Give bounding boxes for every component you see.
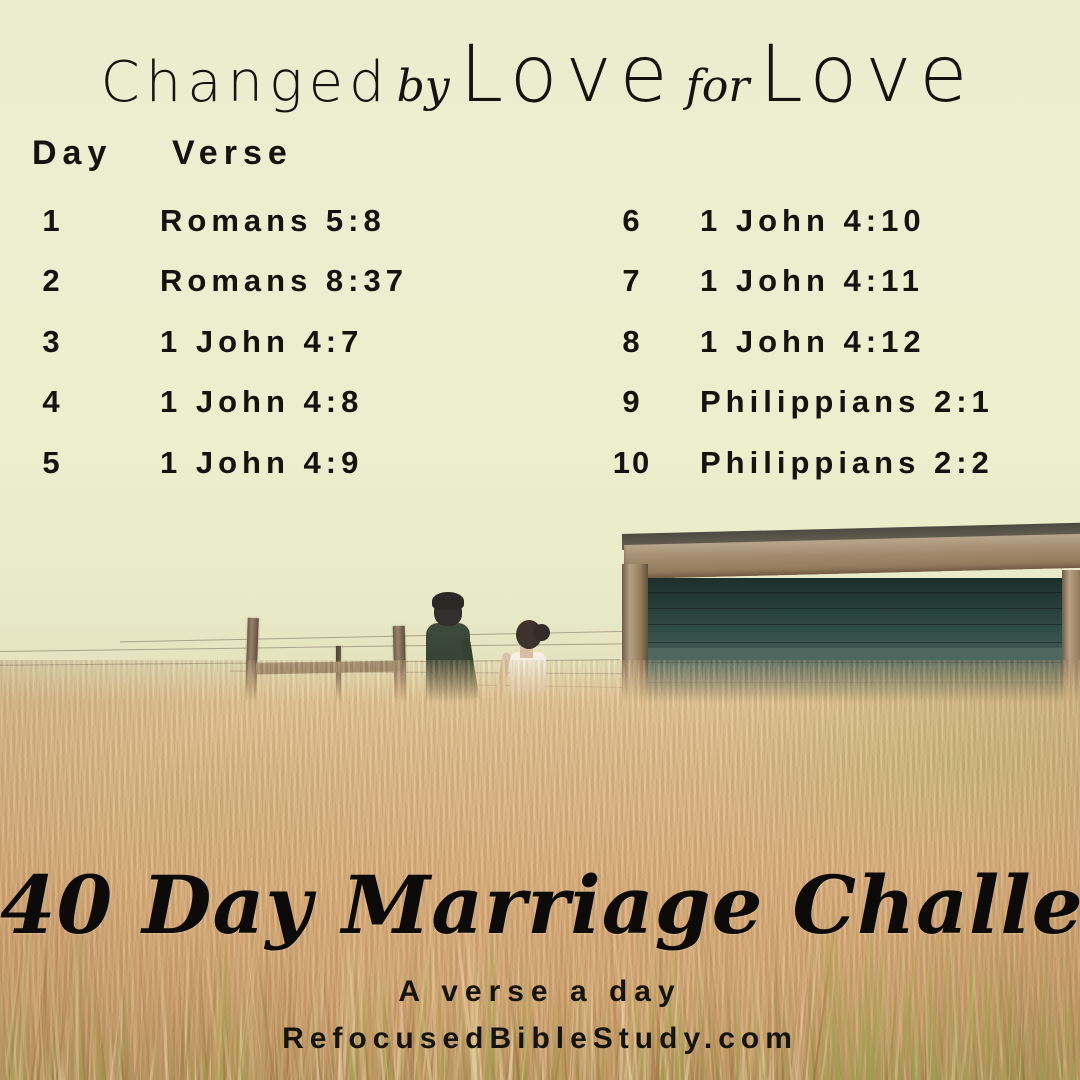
day-number: 1	[20, 203, 84, 239]
verse-reference: 1 John 4:9	[160, 445, 363, 481]
day-number: 4	[20, 384, 84, 420]
groom-hair	[432, 592, 464, 610]
verse-reference: Philippians 2:1	[700, 384, 994, 420]
day-number: 6	[600, 203, 664, 239]
verse-reference: 1 John 4:7	[160, 324, 363, 360]
verse-reference: Philippians 2:2	[700, 445, 994, 481]
bride-hair-bun	[533, 624, 550, 641]
verse-reference: 1 John 4:11	[700, 263, 924, 299]
website-url: RefocusedBibleStudy.com	[0, 1022, 1080, 1056]
verse-schedule-table: 1 Romans 5:8 2 Romans 8:37 3 1 John 4:7 …	[0, 0, 1080, 540]
day-number: 7	[600, 263, 664, 299]
verse-reference: 1 John 4:12	[700, 324, 926, 360]
verse-reference: Romans 5:8	[160, 203, 386, 239]
day-number: 2	[20, 263, 84, 299]
verse-reference: 1 John 4:10	[700, 203, 926, 239]
day-number: 8	[600, 324, 664, 360]
day-number: 3	[20, 324, 84, 360]
poster-canvas: ChangedbyLoveforLove Day Verse 1 Romans …	[0, 0, 1080, 1080]
day-number: 9	[600, 384, 664, 420]
verse-reference: 1 John 4:8	[160, 384, 363, 420]
day-number: 5	[20, 445, 84, 481]
challenge-title: 40 Day Marriage Challenge	[0, 858, 1080, 952]
tagline: A verse a day	[0, 975, 1080, 1009]
verse-reference: Romans 8:37	[160, 263, 408, 299]
day-number: 10	[600, 445, 664, 481]
